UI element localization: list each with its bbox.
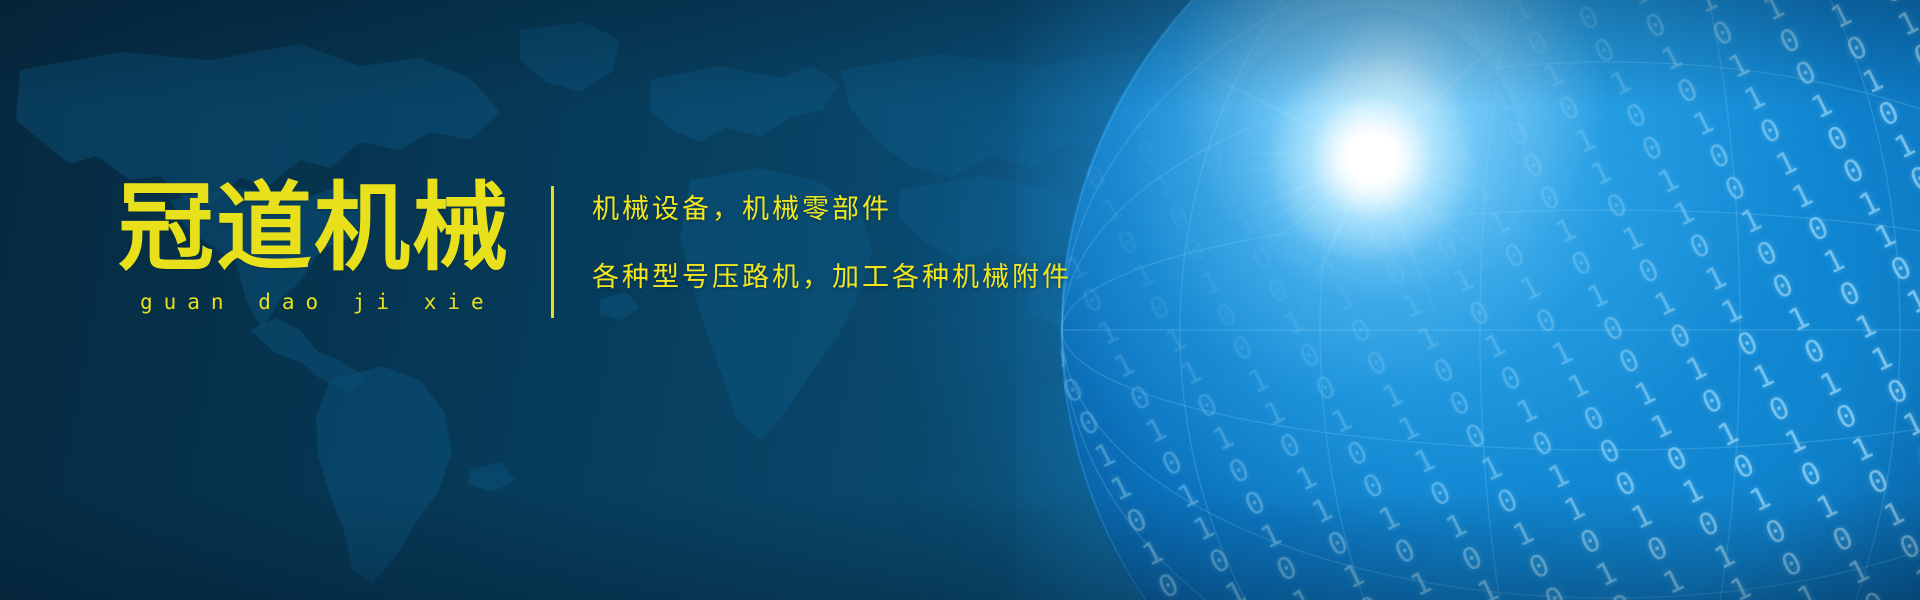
banner-content: 冠道机械 guan dao ji xie 机械设备，机械零部件 各种型号压路机，… xyxy=(0,0,1180,600)
vertical-divider xyxy=(551,186,554,318)
tagline-line-1: 机械设备，机械零部件 xyxy=(592,196,1072,223)
company-name-chinese: 冠道机械 xyxy=(118,180,538,278)
company-hero-banner: 0 1 0 1 0 0 1 0 1 1 0 1 0 0 1 0 1 0 0 1 … xyxy=(0,0,1920,600)
globe-shadow-limb xyxy=(1060,0,1920,600)
company-name-pinyin: guan dao ji xie xyxy=(118,290,538,314)
tagline-line-2: 各种型号压路机，加工各种机械附件 xyxy=(592,264,1072,291)
digital-binary-globe: 0 1 0 1 0 0 1 0 1 1 0 1 0 0 1 0 1 0 0 1 … xyxy=(1060,0,1920,600)
tagline-group: 机械设备，机械零部件 各种型号压路机，加工各种机械附件 xyxy=(592,196,1072,291)
company-logo[interactable]: 冠道机械 guan dao ji xie xyxy=(118,180,538,314)
